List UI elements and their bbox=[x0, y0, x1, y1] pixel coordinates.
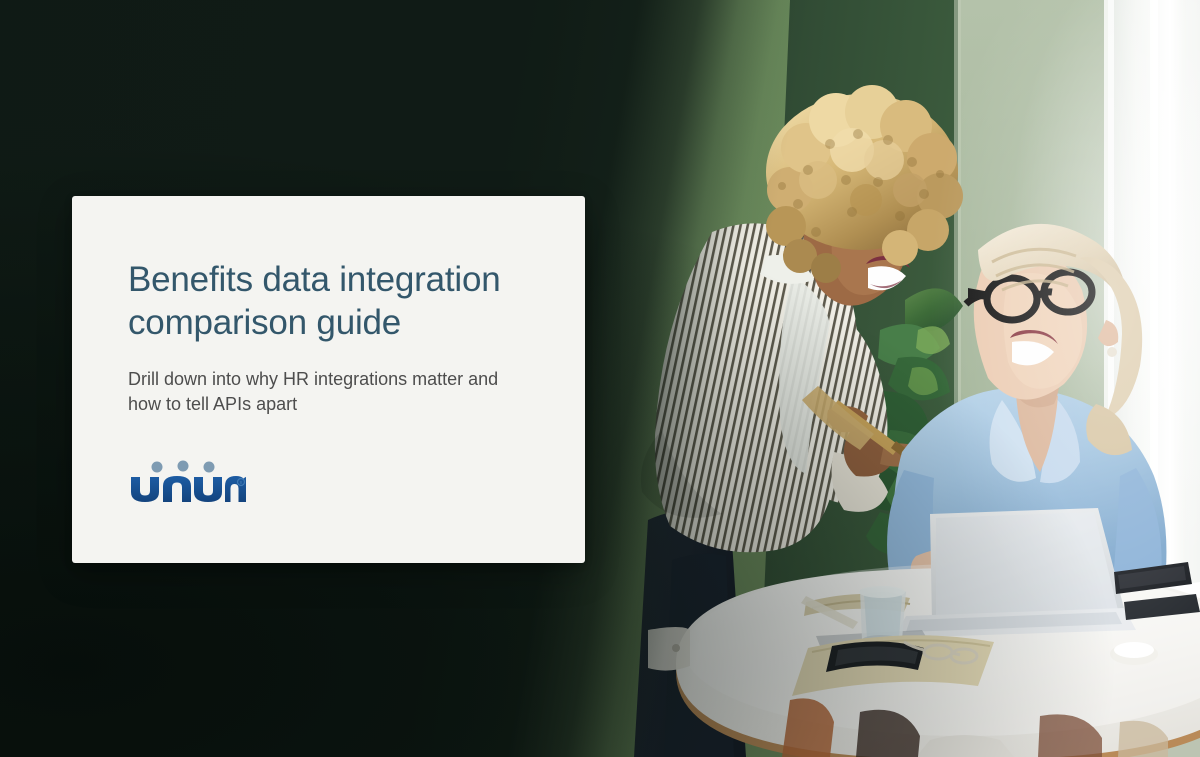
slide-canvas: Benefits data integration comparison gui… bbox=[0, 0, 1200, 757]
unum-logo: R bbox=[128, 459, 246, 503]
title-card: Benefits data integration comparison gui… bbox=[72, 196, 585, 563]
page-subtitle: Drill down into why HR integrations matt… bbox=[128, 367, 528, 417]
page-title: Benefits data integration comparison gui… bbox=[128, 258, 528, 344]
unum-wordmark bbox=[131, 476, 246, 502]
unum-logo-dots bbox=[152, 461, 215, 473]
svg-text:R: R bbox=[239, 480, 242, 485]
